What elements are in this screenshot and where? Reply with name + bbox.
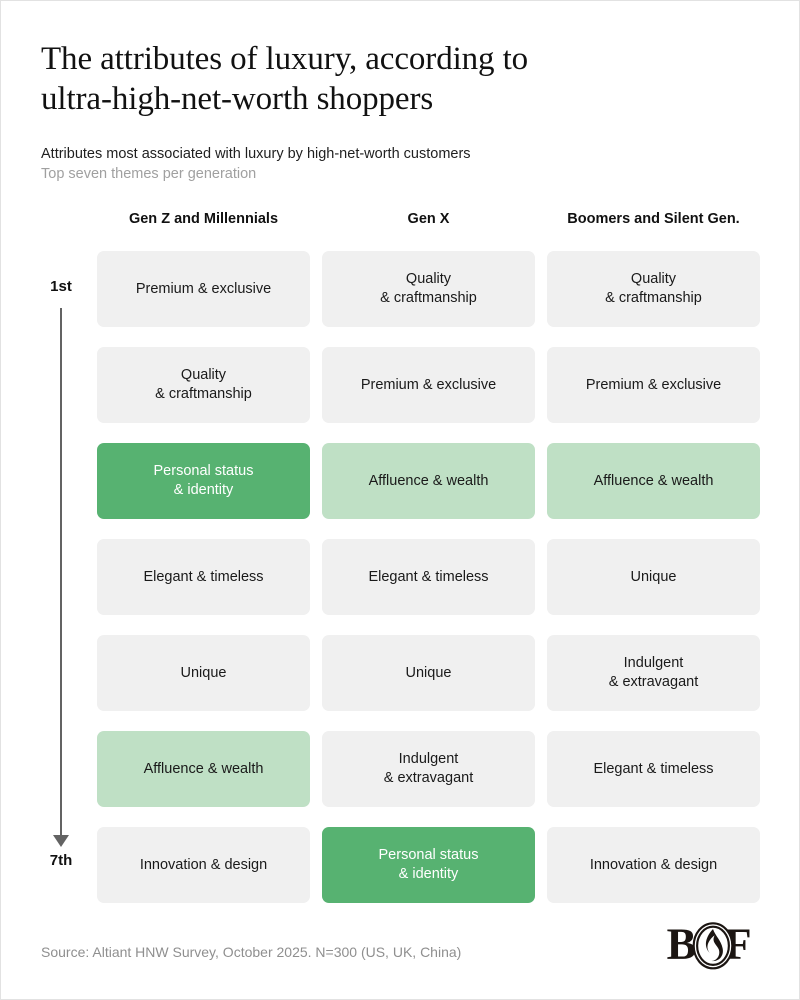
matrix-cell[interactable]: Indulgent & extravagant — [322, 731, 535, 807]
source-note: Source: Altiant HNW Survey, October 2025… — [41, 944, 461, 960]
matrix-cell[interactable]: Quality & craftmanship — [547, 251, 760, 327]
matrix-cell[interactable]: Unique — [97, 635, 310, 711]
matrix-row: Elegant & timeless Elegant & timeless Un… — [1, 539, 800, 635]
subtitle: Attributes most associated with luxury b… — [41, 145, 741, 164]
header: The attributes of luxury, according to u… — [41, 39, 741, 184]
matrix-cell[interactable]: Premium & exclusive — [97, 251, 310, 327]
matrix-cell[interactable]: Premium & exclusive — [547, 347, 760, 423]
infographic-canvas: The attributes of luxury, according to u… — [0, 0, 800, 1000]
footer: Source: Altiant HNW Survey, October 2025… — [41, 939, 761, 985]
column-header-boomers-silent-gen: Boomers and Silent Gen. — [547, 211, 760, 227]
matrix-row: Unique Unique Indulgent & extravagant — [1, 635, 800, 731]
matrix-cell[interactable]: Affluence & wealth — [97, 731, 310, 807]
matrix-cell[interactable]: Elegant & timeless — [97, 539, 310, 615]
matrix-cell[interactable]: Affluence & wealth — [322, 443, 535, 519]
matrix-cell[interactable]: Elegant & timeless — [547, 731, 760, 807]
matrix-grid: Premium & exclusive Quality & craftmansh… — [1, 251, 800, 923]
svg-text:B: B — [667, 919, 697, 969]
matrix-cell[interactable]: Indulgent & extravagant — [547, 635, 760, 711]
column-header-gen-x: Gen X — [322, 211, 535, 227]
page-title: The attributes of luxury, according to u… — [41, 39, 741, 119]
matrix-row: Affluence & wealth Indulgent & extravaga… — [1, 731, 800, 827]
matrix-cell[interactable]: Elegant & timeless — [322, 539, 535, 615]
matrix-cell[interactable]: Personal status & identity — [322, 827, 535, 903]
attributes-matrix: Gen Z and Millennials Gen X Boomers and … — [1, 211, 800, 241]
matrix-row: Personal status & identity Affluence & w… — [1, 443, 800, 539]
column-headers: Gen Z and Millennials Gen X Boomers and … — [1, 211, 800, 241]
matrix-cell[interactable]: Unique — [547, 539, 760, 615]
matrix-cell[interactable]: Innovation & design — [547, 827, 760, 903]
column-header-gen-z-millennials: Gen Z and Millennials — [97, 211, 310, 227]
matrix-row: Quality & craftmanship Premium & exclusi… — [1, 347, 800, 443]
matrix-cell[interactable]: Premium & exclusive — [322, 347, 535, 423]
matrix-cell[interactable]: Affluence & wealth — [547, 443, 760, 519]
matrix-cell[interactable]: Unique — [322, 635, 535, 711]
matrix-row: Premium & exclusive Quality & craftmansh… — [1, 251, 800, 347]
matrix-row: Innovation & design Personal status & id… — [1, 827, 800, 923]
bof-logo: B F — [665, 917, 761, 973]
matrix-cell[interactable]: Quality & craftmanship — [322, 251, 535, 327]
matrix-cell[interactable]: Innovation & design — [97, 827, 310, 903]
subtitle-secondary: Top seven themes per generation — [41, 165, 741, 184]
matrix-cell[interactable]: Personal status & identity — [97, 443, 310, 519]
matrix-cell[interactable]: Quality & craftmanship — [97, 347, 310, 423]
